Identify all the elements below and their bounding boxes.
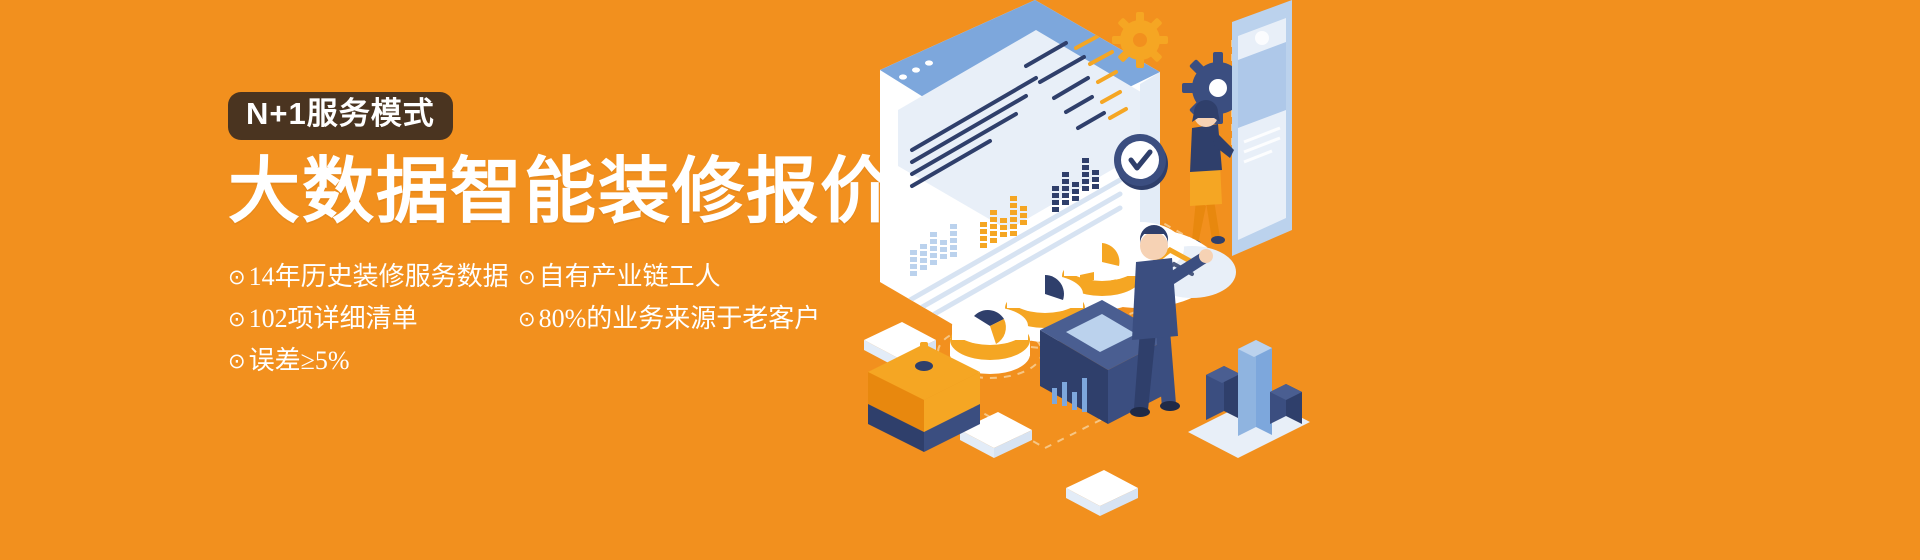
feature-column-right: ⊙ 自有产业链工人 ⊙ 80%的业务来源于老客户 xyxy=(518,256,848,382)
list-item: ⊙ 14年历史装修服务数据 xyxy=(228,256,518,298)
bullet-icon: ⊙ xyxy=(518,302,536,336)
list-item: ⊙ 误差≥5% xyxy=(228,340,518,382)
bar-chart-blocks xyxy=(1188,340,1310,458)
list-item: ⊙ 自有产业链工人 xyxy=(518,256,848,298)
bullet-icon: ⊙ xyxy=(518,260,536,294)
list-item-label: 102项详细清单 xyxy=(249,298,418,340)
list-item-label: 自有产业链工人 xyxy=(539,256,721,298)
businesswoman-figure xyxy=(1187,100,1234,248)
smartphone xyxy=(1232,0,1292,256)
list-item-label: 14年历史装修服务数据 xyxy=(249,256,509,298)
list-item: ⊙ 102项详细清单 xyxy=(228,298,518,340)
bullet-icon: ⊙ xyxy=(228,302,246,336)
isometric-illustration xyxy=(840,0,1340,560)
feature-column-left: ⊙ 14年历史装修服务数据 ⊙ 102项详细清单 ⊙ 误差≥5% xyxy=(228,256,518,382)
service-mode-badge: N+1服务模式 xyxy=(228,92,453,140)
list-item-label: 80%的业务来源于老客户 xyxy=(539,298,821,340)
bullet-icon: ⊙ xyxy=(228,260,246,294)
bullet-icon: ⊙ xyxy=(228,344,246,378)
gear-orange xyxy=(1112,12,1168,68)
list-item-label: 误差≥5% xyxy=(249,340,350,382)
feature-list: ⊙ 14年历史装修服务数据 ⊙ 102项详细清单 ⊙ 误差≥5% ⊙ 自有产业链… xyxy=(228,256,868,382)
list-item: ⊙ 80%的业务来源于老客户 xyxy=(518,298,848,340)
promo-banner: N+1服务模式 大数据智能装修报价 ⊙ 14年历史装修服务数据 ⊙ 102项详细… xyxy=(0,0,1920,560)
